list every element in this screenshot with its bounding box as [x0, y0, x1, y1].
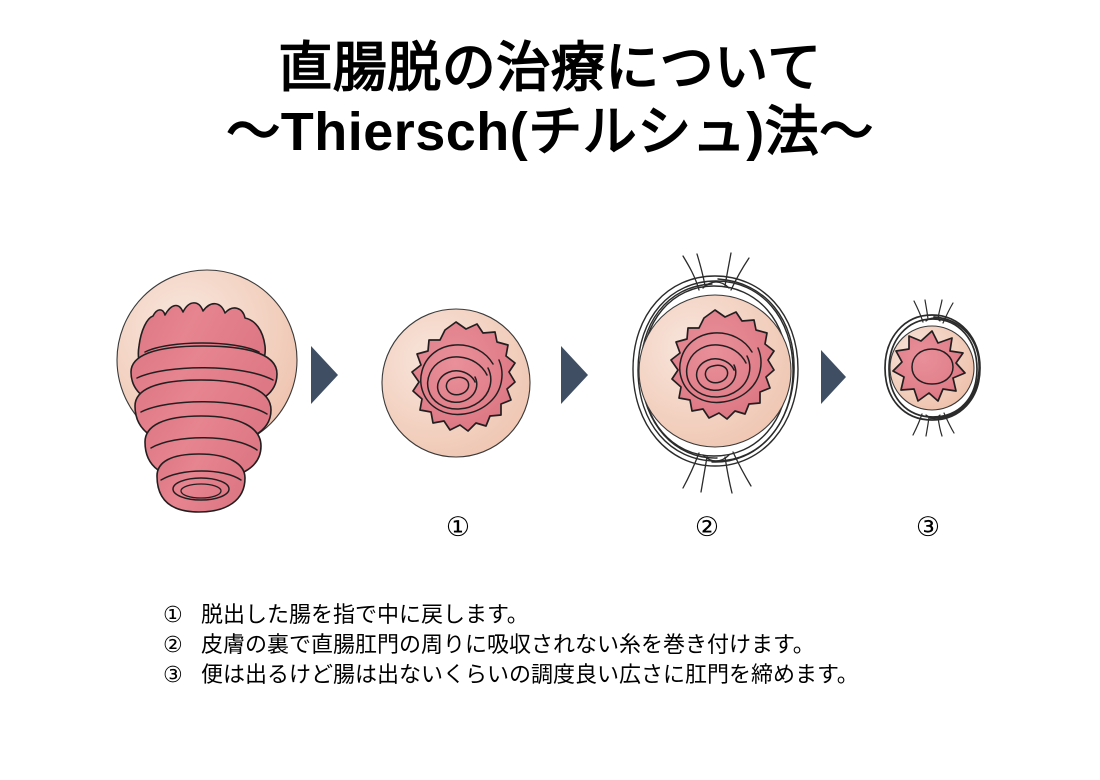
panel-prolapsed-rectum [95, 260, 335, 550]
page-title: 直腸脱の治療について 〜Thiersch(チルシュ)法〜 [0, 36, 1100, 164]
title-line-2: 〜Thiersch(チルシュ)法〜 [0, 100, 1100, 164]
arrow-triangle [821, 350, 846, 404]
prolapse-ring-5 [157, 454, 245, 512]
caption-text-1: 脱出した腸を指で中に戻します。 [201, 600, 1043, 630]
arrow-2 [558, 344, 592, 406]
arrow-3 [818, 348, 850, 406]
caption-row-2: ② 皮膚の裏で直腸肛門の周りに吸収されない糸を巻き付けます。 [163, 630, 1043, 660]
caption-text-3: 便は出るけど腸は出ないくらいの調度良い広さに肛門を締めます。 [201, 660, 1043, 690]
caption-row-3: ③ 便は出るけど腸は出ないくらいの調度良い広さに肛門を締めます。 [163, 660, 1043, 690]
caption-text-2: 皮膚の裏で直腸肛門の周りに吸収されない糸を巻き付けます。 [201, 630, 1043, 660]
illustration-strip: ① ② ③ [0, 240, 1100, 560]
arrow-triangle [311, 346, 338, 404]
panel-suture-placed [615, 250, 815, 500]
arrow-1 [308, 344, 342, 406]
caption-marker-3: ③ [163, 660, 201, 690]
step-label-1: ① [428, 512, 488, 542]
panel-suture-tightened [868, 298, 998, 438]
step-label-3: ③ [898, 512, 958, 542]
arrow-triangle [561, 346, 588, 404]
caption-marker-2: ② [163, 630, 201, 660]
title-line-1: 直腸脱の治療について [0, 36, 1100, 100]
caption-list: ① 脱出した腸を指で中に戻します。 ② 皮膚の裏で直腸肛門の周りに吸収されない糸… [163, 600, 1043, 690]
panel-reduced-anus [378, 298, 538, 468]
caption-marker-1: ① [163, 600, 201, 630]
step-label-2: ② [677, 512, 737, 542]
caption-row-1: ① 脱出した腸を指で中に戻します。 [163, 600, 1043, 630]
